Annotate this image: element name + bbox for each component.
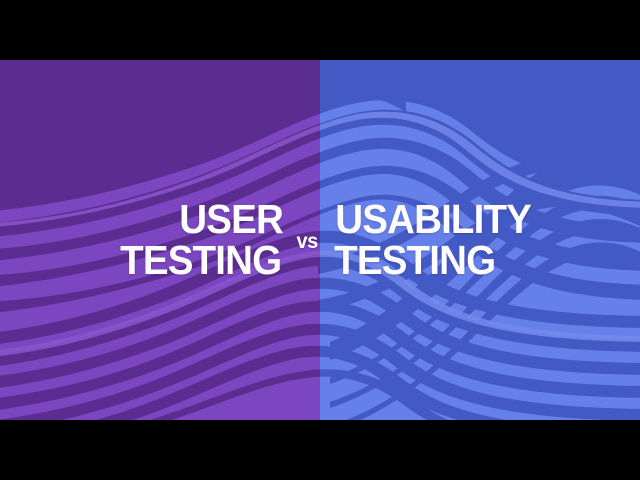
letterbox-bar-bottom	[0, 420, 640, 480]
slide-canvas: USER TESTING vs USABILITY TESTING	[0, 0, 640, 480]
letterbox-bar-top	[0, 0, 640, 60]
wave-background	[0, 60, 640, 420]
